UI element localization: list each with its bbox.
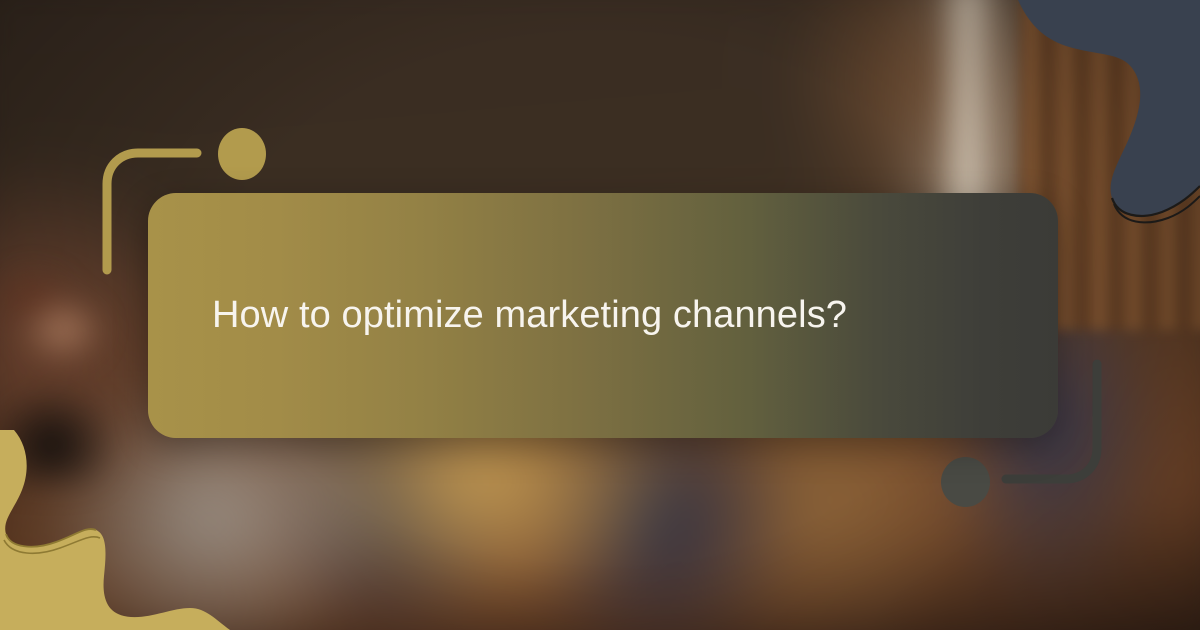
quote-card: How to optimize marketing channels? bbox=[148, 193, 1058, 438]
gold-dot bbox=[218, 128, 266, 180]
dark-dot bbox=[941, 457, 990, 507]
social-card-canvas: How to optimize marketing channels? bbox=[0, 0, 1200, 630]
bottom-left-blob bbox=[0, 430, 230, 630]
quote-text: How to optimize marketing channels? bbox=[212, 292, 847, 340]
